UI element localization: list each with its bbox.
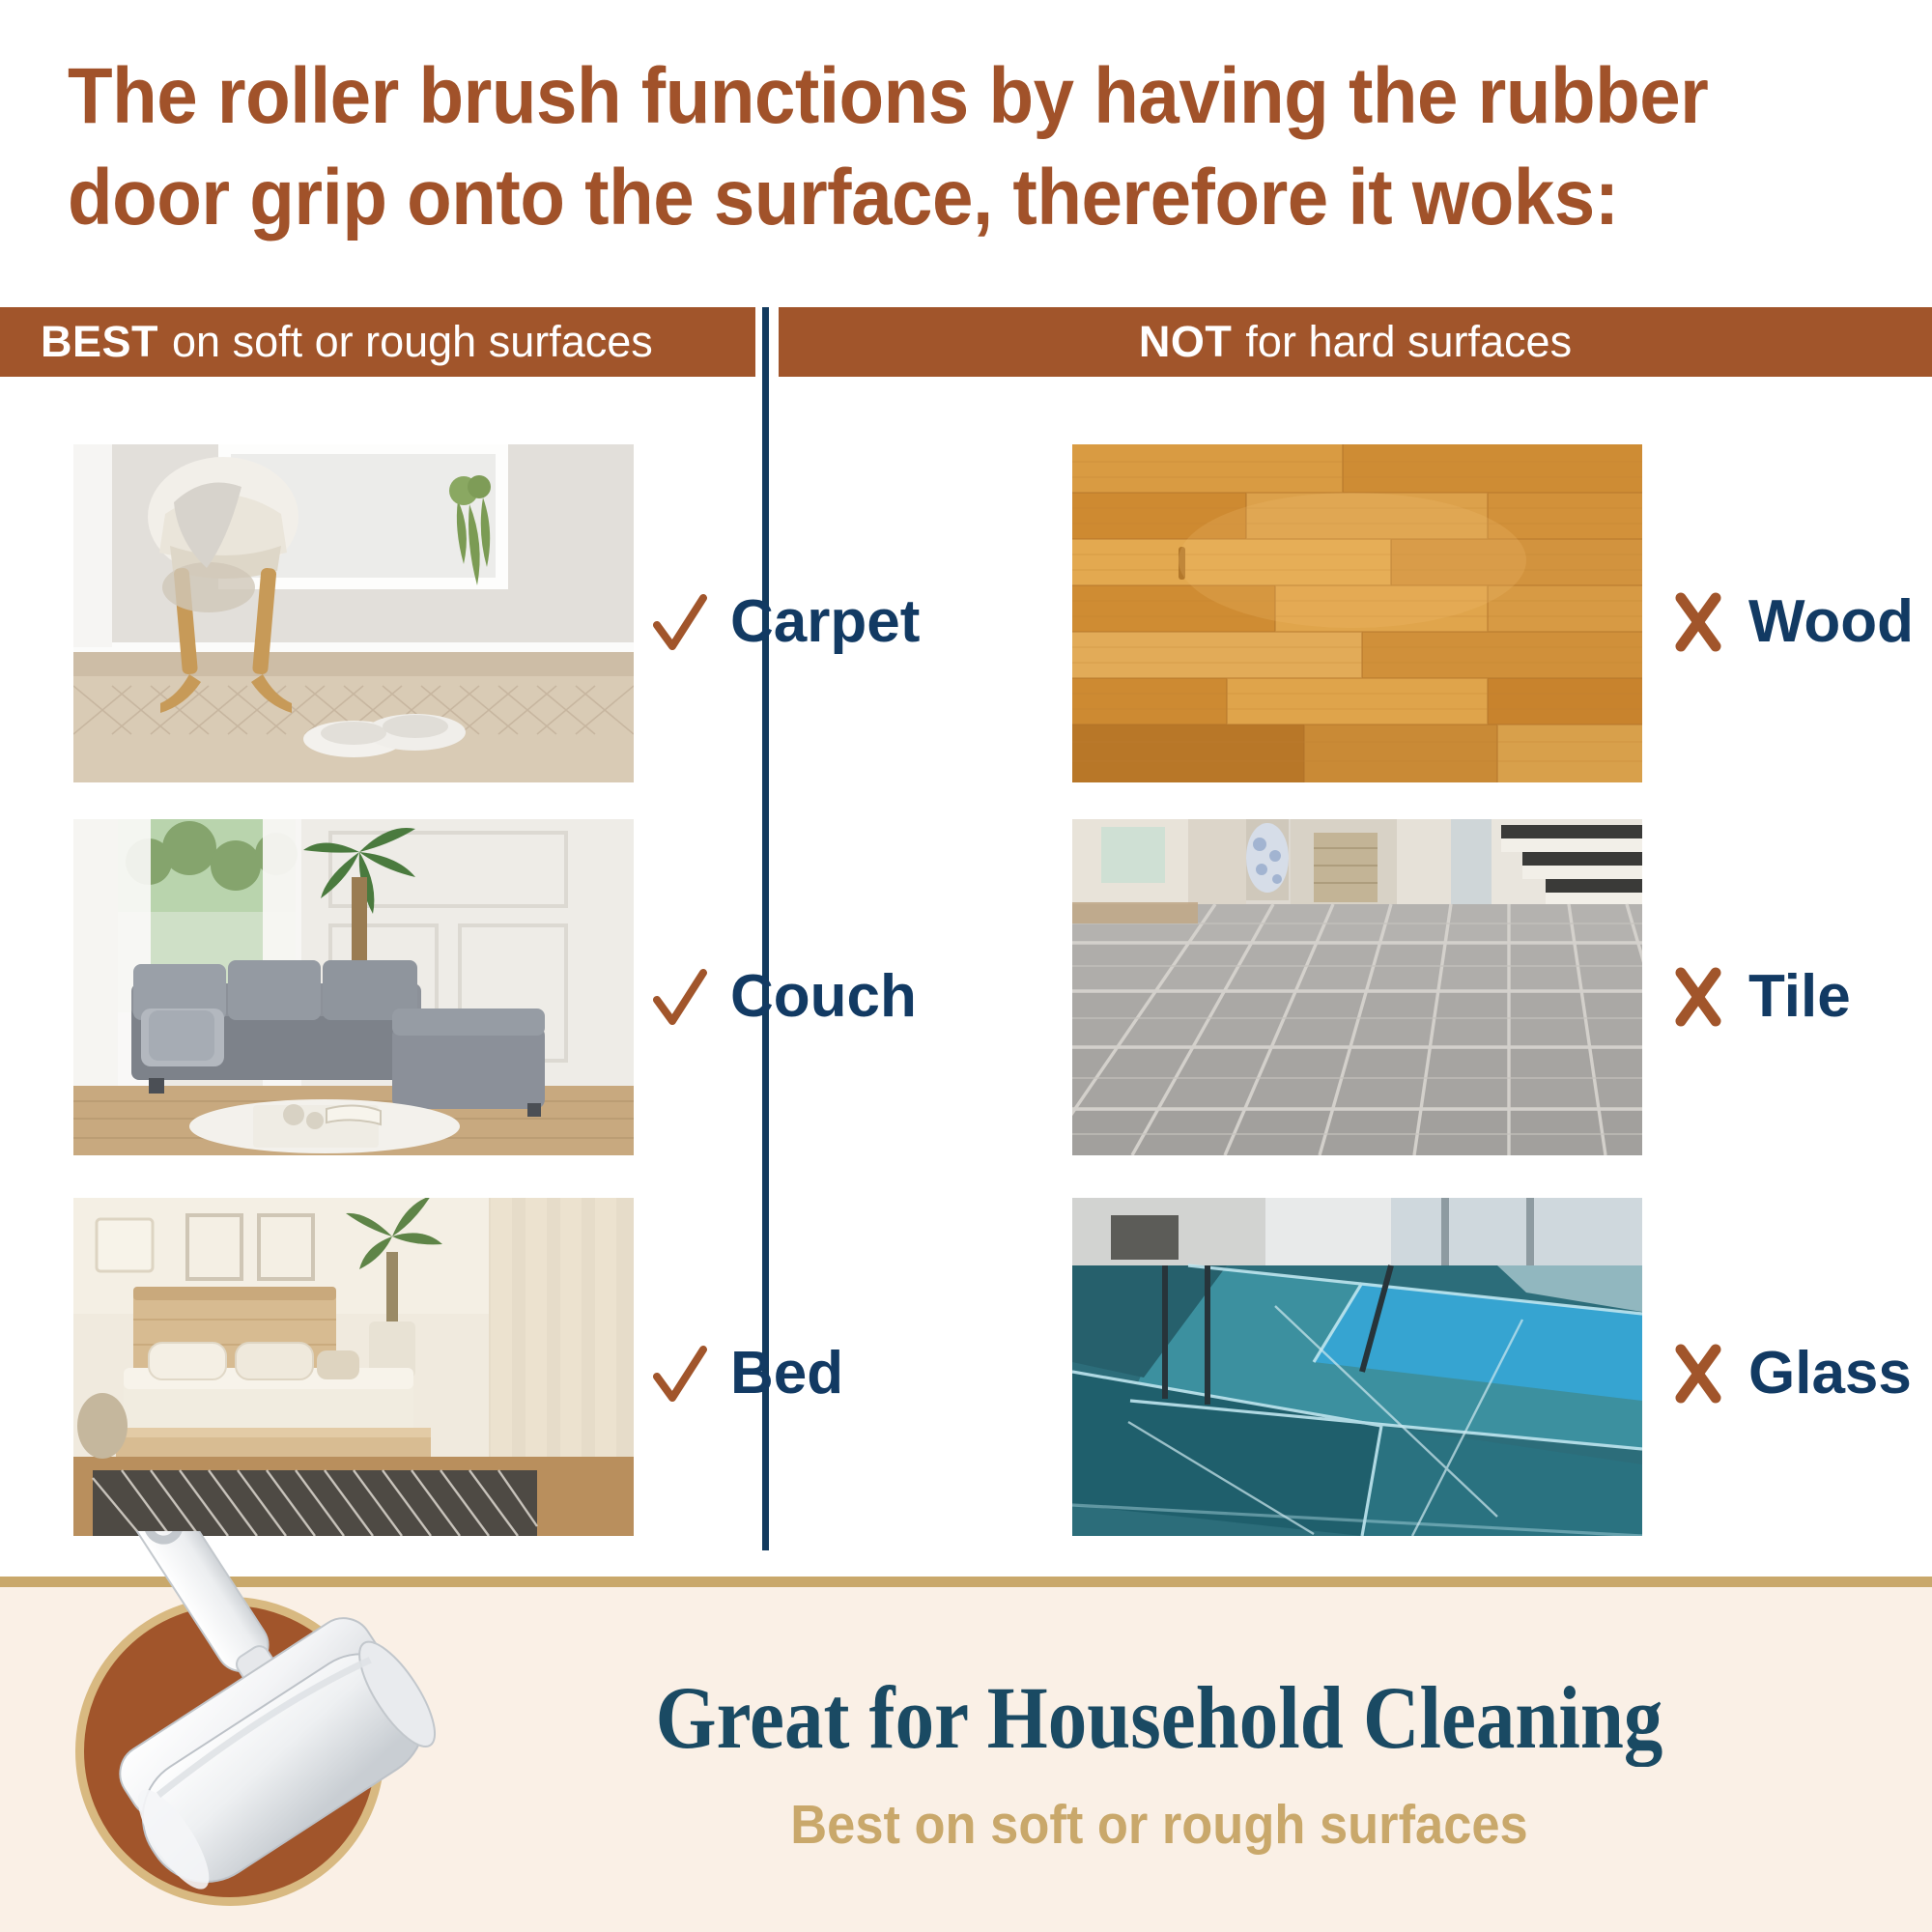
- cross-icon: [1671, 1344, 1725, 1404]
- column-header-not-emphasis: NOT: [1139, 317, 1233, 367]
- check-icon: [653, 1344, 707, 1404]
- page-title: The roller brush functions by having the…: [68, 46, 1775, 249]
- glass-floor-photo: [1072, 1198, 1642, 1536]
- good-item-carpet: Carpet: [653, 587, 920, 656]
- bad-item-glass-label: Glass: [1748, 1339, 1912, 1407]
- check-icon: [653, 967, 707, 1027]
- bad-item-wood: Wood: [1671, 587, 1914, 656]
- bad-item-glass: Glass: [1671, 1339, 1912, 1407]
- check-icon: [653, 592, 707, 652]
- good-item-bed: Bed: [653, 1339, 843, 1407]
- cross-icon: [1671, 592, 1725, 652]
- column-header-best-rest: on soft or rough surfaces: [172, 317, 653, 367]
- good-item-couch-label: Couch: [730, 962, 917, 1031]
- column-header-not-rest: for hard surfaces: [1245, 317, 1572, 367]
- banner-subtitle: Best on soft or rough surfaces: [475, 1793, 1844, 1857]
- good-item-bed-label: Bed: [730, 1339, 843, 1407]
- couch-photo: [73, 819, 634, 1155]
- column-header-best: BEST on soft or rough surfaces: [0, 307, 755, 377]
- tile-floor-photo: [1072, 819, 1642, 1155]
- bed-photo: [73, 1198, 634, 1536]
- banner-title: Great for Household Cleaning: [504, 1666, 1813, 1769]
- good-item-couch: Couch: [653, 962, 917, 1031]
- carpet-photo: [73, 444, 634, 782]
- bad-item-tile-label: Tile: [1748, 962, 1851, 1031]
- cross-icon: [1671, 967, 1725, 1027]
- bad-item-tile: Tile: [1671, 962, 1851, 1031]
- good-item-carpet-label: Carpet: [730, 587, 920, 656]
- wood-floor-photo: [1072, 444, 1642, 782]
- column-header-not: NOT for hard surfaces: [779, 307, 1932, 377]
- column-header-best-emphasis: BEST: [41, 317, 158, 367]
- bad-item-wood-label: Wood: [1748, 587, 1914, 656]
- lint-roller-icon: [58, 1531, 444, 1932]
